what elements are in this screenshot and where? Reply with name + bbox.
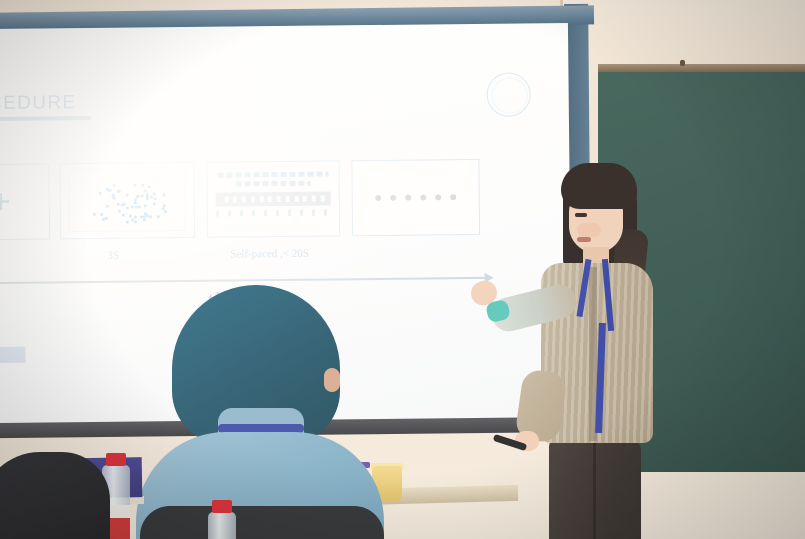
stimulus-dot: [150, 195, 153, 198]
water-bottle: [205, 500, 239, 539]
scale-tick: [259, 196, 263, 202]
presenter-hair-front: [561, 163, 637, 209]
question-text-line-2: [236, 181, 311, 187]
stimulus-dot: [134, 220, 137, 223]
mask-dot-row-icon: [375, 194, 456, 201]
panel-duration-labels: 2S 3S Self-paced ,< 20S: [0, 245, 552, 271]
slide-title: ROCEDURE: [0, 92, 77, 115]
stimulus-dot: [141, 194, 144, 197]
scale-tick: [294, 196, 298, 202]
stimulus-dot: [157, 215, 160, 218]
stimulus-dot: [134, 184, 137, 187]
stimulus-dot: [118, 189, 121, 192]
time-axis-arrow-icon: [0, 277, 493, 285]
scale-tick: [233, 196, 237, 202]
chalk-piece: [680, 60, 685, 66]
stimulus-dot: [111, 194, 114, 197]
seal-ring: [491, 77, 527, 113]
panel-response-scale: [206, 160, 340, 237]
stimulus-dot: [100, 213, 103, 216]
question-text-line-1: [217, 172, 328, 178]
slide-footer-chip: [0, 347, 25, 363]
stimulus-dot: [138, 206, 141, 209]
stimulus-dot: [162, 204, 165, 207]
title-underline: [0, 116, 91, 121]
scale-tick: [321, 196, 325, 202]
stimulus-dot: [131, 218, 134, 221]
presenter: [505, 163, 670, 539]
scale-tick: [277, 196, 281, 202]
lecture-photo: ROCEDURE + 2: [0, 0, 805, 539]
stimulus-dot: [123, 203, 126, 206]
stimulus-dot: [164, 210, 167, 213]
stimulus-dot: [144, 205, 147, 208]
stimulus-dot: [122, 214, 125, 217]
stimulus-dot: [99, 192, 102, 195]
foreground-person: [0, 452, 110, 539]
presenter-trouser-seam: [593, 443, 596, 539]
rating-scale-numbers: [216, 209, 331, 216]
stimulus-dot: [144, 190, 147, 193]
stimulus-dot: [116, 203, 119, 206]
stimulus-dot: [113, 197, 116, 200]
scale-tick: [286, 196, 290, 202]
stimulus-dot: [142, 184, 145, 187]
university-seal-icon: [486, 72, 530, 116]
stimulus-dot: [146, 193, 149, 196]
audience-member-lower: [140, 506, 384, 539]
stimulus-dot: [93, 213, 96, 216]
stimulus-dot: [126, 194, 129, 197]
stimulus-dot: [134, 216, 137, 219]
duration-label-2: 3S: [107, 250, 119, 262]
stimulus-dot: [154, 197, 157, 200]
panel-mask: [351, 159, 480, 236]
scale-tick: [312, 196, 316, 202]
stimulus-dot: [113, 184, 116, 187]
stimulus-dot: [134, 206, 137, 209]
stimulus-dot: [108, 188, 111, 191]
dot-array-icon: [68, 169, 186, 232]
stimulus-dot: [148, 185, 151, 188]
fixation-cross-icon: +: [0, 185, 11, 219]
stimulus-dot: [133, 201, 136, 204]
stimulus-dot: [163, 193, 166, 196]
stimulus-dot: [146, 197, 149, 200]
bottle-cap: [212, 500, 232, 513]
stimulus-dot: [105, 204, 108, 207]
stimulus-dot: [102, 218, 105, 221]
stimulus-dot: [126, 221, 129, 224]
panel-fixation-cross: +: [0, 163, 50, 240]
wall-upper: [560, 0, 805, 66]
stimulus-dot: [134, 198, 137, 201]
stimulus-dot: [131, 206, 134, 209]
presenter-eye: [575, 213, 587, 217]
duration-label-3: Self-paced ,< 20S: [230, 248, 309, 261]
stimulus-dot: [117, 209, 120, 212]
presenter-mouth: [577, 237, 591, 242]
stimulus-dot: [153, 202, 156, 205]
audience-member-ear: [324, 368, 340, 392]
procedure-panels: +: [0, 158, 552, 244]
scale-tick: [224, 197, 228, 203]
bottle-body: [208, 512, 236, 539]
scale-tick: [242, 196, 246, 202]
scale-tick: [268, 196, 272, 202]
stimulus-dot: [125, 207, 128, 210]
stimulus-dot: [153, 193, 156, 196]
rating-scale-icon: [216, 191, 331, 206]
bottle-cap: [106, 453, 126, 466]
panel-dot-array: [59, 162, 195, 239]
stimulus-dot: [149, 216, 152, 219]
stimulus-dot: [143, 218, 146, 221]
scale-tick: [303, 196, 307, 202]
stimulus-dot: [105, 217, 108, 220]
presenter-cheek: [577, 223, 601, 237]
scale-tick: [251, 196, 255, 202]
